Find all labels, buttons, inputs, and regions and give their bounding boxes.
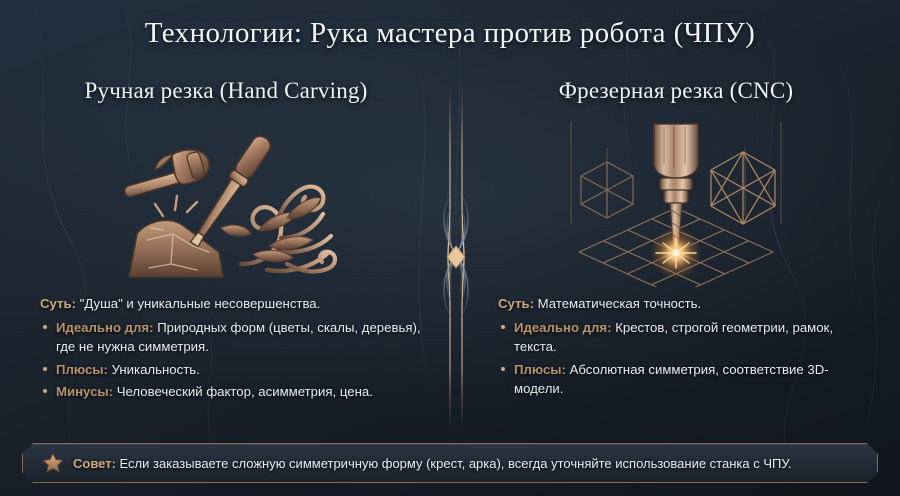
- bullet-list-hand-carving: Идеально для: Природных форм (цветы, ска…: [40, 318, 430, 402]
- facts-cnc-milling: Суть: Математическая точность. Идеально …: [498, 294, 873, 402]
- tip-text: Совет: Если заказываете сложную симметри…: [73, 456, 791, 471]
- hammer-chisel-stone-ornament-icon: [101, 112, 351, 282]
- bullet-text: Уникальность.: [112, 362, 200, 377]
- lead-label: Суть:: [40, 296, 76, 311]
- lead-text: Математическая точность.: [538, 296, 702, 311]
- bullet-label: Плюсы:: [514, 362, 566, 377]
- list-item: Минусы: Человеческий фактор, асимметрия,…: [40, 382, 430, 402]
- list-item: Идеально для: Крестов, строгой геометрии…: [498, 318, 873, 357]
- infographic-slide: Технологии: Рука мастера против робота (…: [0, 0, 900, 496]
- bullet-text: Человеческий фактор, асимметрия, цена.: [117, 384, 373, 399]
- column-divider: [424, 82, 488, 432]
- tip-bar: Совет: Если заказываете сложную симметри…: [22, 443, 878, 483]
- column-hand-carving: Ручная резка (Hand Carving): [0, 78, 452, 282]
- list-item: Идеально для: Природных форм (цветы, ска…: [40, 318, 430, 357]
- list-item: Плюсы: Уникальность.: [40, 360, 430, 380]
- wireframe-right: [711, 152, 775, 224]
- star-icon: [42, 452, 64, 474]
- wireframe-left: [581, 162, 633, 218]
- bullet-label: Идеально для:: [514, 320, 612, 335]
- lead-text: "Душа" и уникальные несовершенства.: [80, 296, 321, 311]
- tip-label: Совет:: [73, 456, 116, 471]
- illustration-hand-carving: [0, 112, 452, 282]
- lead-cnc-milling: Суть: Математическая точность.: [498, 294, 873, 314]
- list-item: Плюсы: Абсолютная симметрия, соответстви…: [498, 360, 873, 399]
- facts-hand-carving: Суть: "Душа" и уникальные несовершенства…: [40, 294, 430, 405]
- column-cnc-milling: Фрезерная резка (CNC): [452, 78, 900, 282]
- bullet-label: Минусы:: [56, 384, 113, 399]
- cnc-spindle-drill-wireframe-grid-icon: [561, 112, 791, 287]
- vertical-braided-ornament-with-diamond: [424, 82, 488, 432]
- bullet-label: Идеально для:: [56, 320, 154, 335]
- page-title: Технологии: Рука мастера против робота (…: [0, 17, 900, 50]
- column-heading-hand-carving: Ручная резка (Hand Carving): [0, 78, 452, 104]
- column-heading-cnc-milling: Фрезерная резка (CNC): [452, 78, 900, 104]
- lead-label: Суть:: [498, 296, 534, 311]
- bullet-list-cnc-milling: Идеально для: Крестов, строгой геометрии…: [498, 318, 873, 399]
- bullet-label: Плюсы:: [56, 362, 108, 377]
- illustration-cnc-milling: [452, 112, 900, 282]
- spindle: [654, 124, 698, 203]
- lead-hand-carving: Суть: "Душа" и уникальные несовершенства…: [40, 294, 430, 314]
- tip-body: Если заказываете сложную симметричную фо…: [120, 456, 792, 471]
